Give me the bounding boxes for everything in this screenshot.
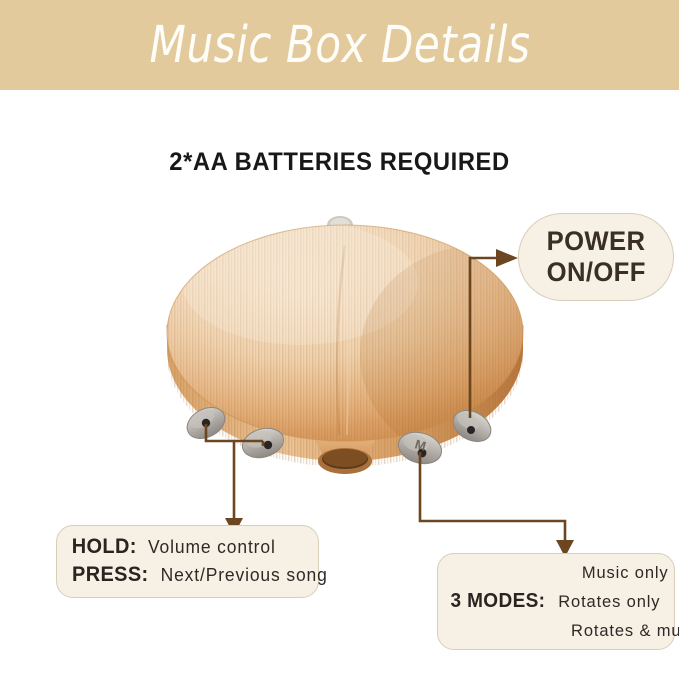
mode-item: Rotates only xyxy=(558,587,679,616)
modes-list: Music only Rotates only Rotates & music xyxy=(556,558,679,646)
callout-three-modes: 3 MODES: Music only Rotates only Rotates… xyxy=(437,553,675,650)
hold-row: HOLD: Volume control xyxy=(70,535,318,559)
mode-item: Rotates & music xyxy=(571,616,679,645)
battery-requirement-notice: 2*AA BATTERIES REQUIRED xyxy=(17,148,662,177)
power-label-line1: POWER xyxy=(547,226,646,257)
modes-label: 3 MODES: xyxy=(450,590,545,613)
mode-item: Music only xyxy=(582,558,679,587)
hold-value: Volume control xyxy=(147,537,275,558)
page-title: Music Box Details xyxy=(149,20,530,71)
music-box-device-image: M xyxy=(150,205,540,505)
callout-button-functions: HOLD: Volume control PRESS: Next/Previou… xyxy=(56,525,319,598)
press-row: PRESS: Next/Previous song xyxy=(70,563,318,587)
power-label-line2: ON/OFF xyxy=(546,257,645,288)
callout-power-onoff: POWER ON/OFF xyxy=(518,213,674,301)
hold-label: HOLD: xyxy=(72,535,137,559)
press-label: PRESS: xyxy=(72,563,149,587)
header-banner: Music Box Details xyxy=(0,0,679,90)
press-value: Next/Previous song xyxy=(160,565,327,586)
